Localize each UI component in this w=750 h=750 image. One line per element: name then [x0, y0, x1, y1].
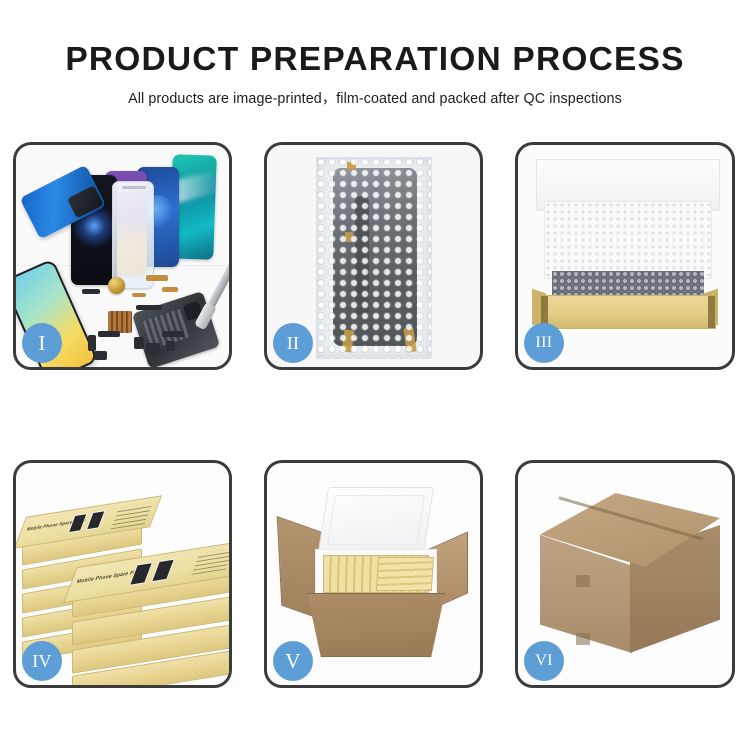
part-strip-1	[82, 289, 100, 294]
ic-chip-icon	[108, 311, 132, 333]
flex-cable-3-icon	[132, 293, 146, 297]
process-step-5: V Boxes packed into carton with foam lin…	[264, 460, 483, 688]
step-2-badge: II	[273, 323, 313, 363]
product-preparation-infographic: PRODUCT PREPARATION PROCESS All products…	[0, 0, 750, 750]
yellow-boxes-row-2	[376, 557, 434, 591]
part-strip-3	[88, 335, 96, 351]
step-5-badge: V	[273, 641, 313, 681]
step-4-badge: IV	[22, 641, 62, 681]
lid-spec-text-lines-2	[191, 548, 229, 575]
shipping-carton-body	[307, 593, 445, 657]
part-strip-5	[136, 305, 162, 310]
white-foam-icon	[544, 201, 712, 279]
bubble-wrap-bag-icon	[316, 157, 432, 359]
gold-connector-icon	[108, 277, 125, 294]
process-step-6: VI Sealed and taped carton ready for shi…	[515, 460, 735, 688]
part-block-1	[134, 337, 144, 349]
flex-cable-2-icon	[162, 287, 178, 292]
lid-phone-image-4	[151, 559, 175, 583]
part-strip-2	[98, 331, 120, 337]
process-step-4: Mobile Phone Spare Parts Mobile Phone Sp…	[13, 460, 232, 688]
lid-phone-image-3	[129, 562, 153, 586]
page-title: PRODUCT PREPARATION PROCESS	[0, 42, 750, 77]
part-block-3	[166, 341, 175, 351]
kraft-box-front-icon	[540, 295, 716, 329]
part-block-2	[146, 343, 160, 355]
tape-2	[345, 232, 353, 242]
process-step-2: II Single screen sealed in bubble wrap b…	[264, 142, 483, 370]
lid-phone-image-2	[86, 510, 106, 530]
step-3-badge: III	[524, 323, 564, 363]
process-step-1: I Mobile phone LCD screens, tempered gla…	[13, 142, 232, 370]
lid-spec-text-lines	[111, 503, 153, 530]
packing-tape-2	[576, 633, 590, 645]
step-6-badge: VI	[524, 641, 564, 681]
flex-cable-1-icon	[146, 275, 168, 281]
step-1-badge: I	[22, 323, 62, 363]
header: PRODUCT PREPARATION PROCESS All products…	[0, 0, 750, 108]
process-step-3: III Screen placed in kraft inner box wit…	[515, 142, 735, 370]
tempered-glass-icon	[112, 181, 154, 289]
foam-lid-icon	[318, 487, 434, 553]
tape-3	[341, 329, 354, 352]
packing-tape-1	[576, 575, 590, 587]
part-block-4	[94, 351, 107, 360]
dark-bubble-wrap-icon	[552, 271, 704, 297]
part-strip-4	[162, 331, 184, 337]
wrapped-screen-icon	[333, 168, 417, 346]
tape-1	[347, 162, 356, 170]
lid-phone-image-1	[68, 513, 88, 533]
process-step-grid: I Mobile phone LCD screens, tempered gla…	[13, 142, 740, 688]
page-subtitle: All products are image-printed，film-coat…	[0, 87, 750, 108]
screwdriver-icon	[205, 262, 229, 312]
